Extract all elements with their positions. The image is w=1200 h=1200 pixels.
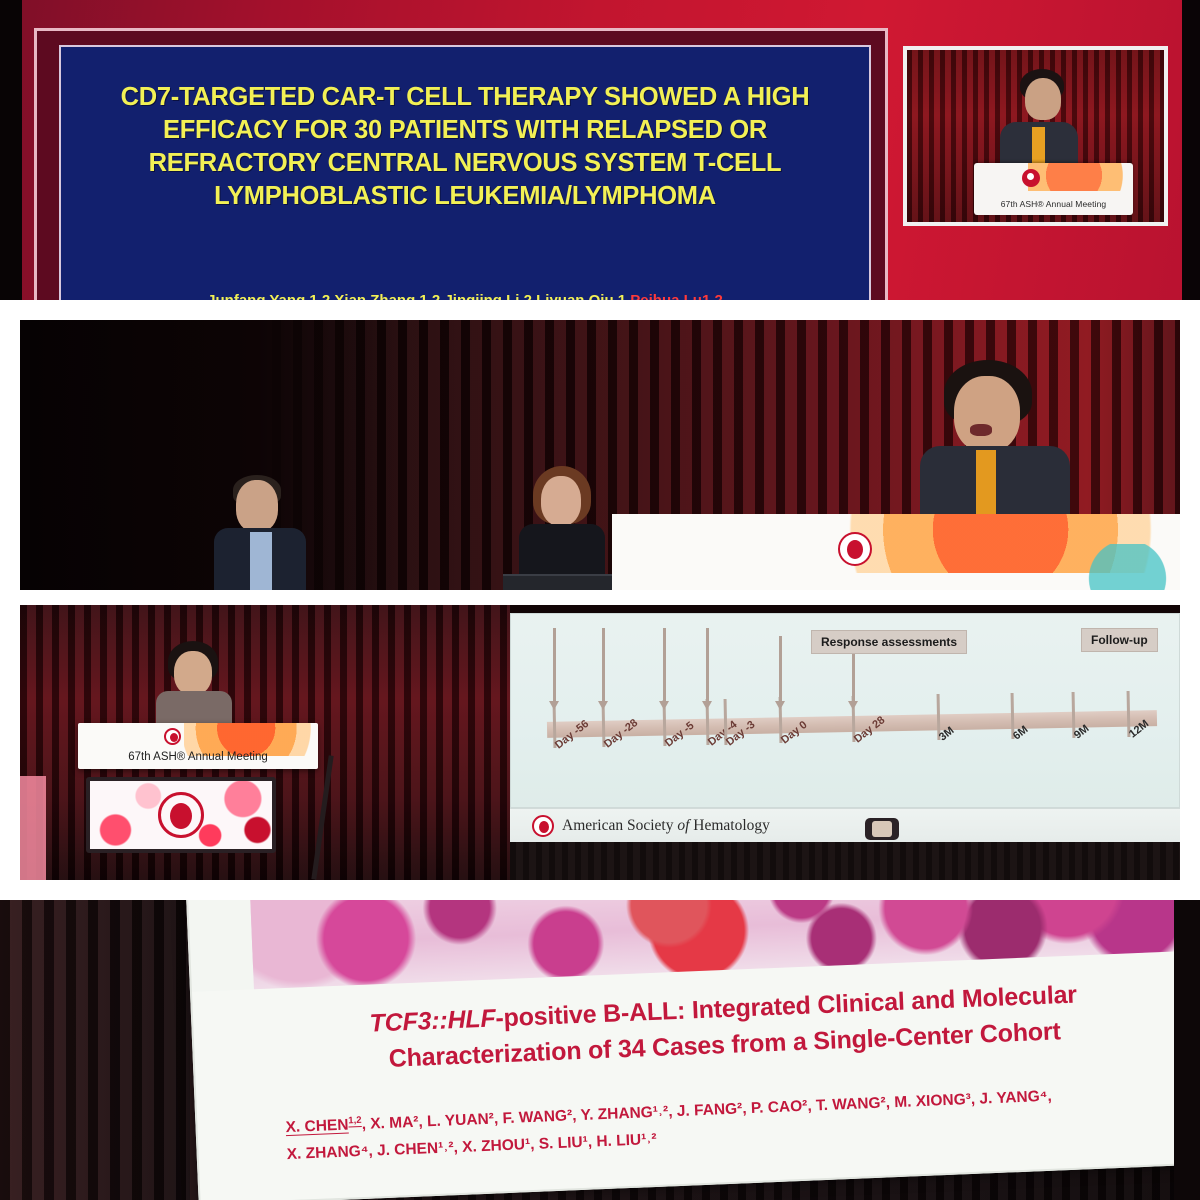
picture-in-picture-speaker[interactable]: 67th ASH® Annual Meeting [903, 46, 1168, 226]
timeline-arrow [852, 650, 855, 702]
seated-panelist-left [206, 480, 336, 590]
ash-footer-of: of [677, 817, 689, 834]
speaker-mouth [970, 424, 992, 436]
ash-logo-icon [164, 728, 181, 745]
timeline-arrow [779, 636, 782, 702]
podium-sign: 67th ASH® Annual Meeting [78, 723, 318, 769]
projection-screen-tcf3: TCF3::HLF-positive B-ALL: Integrated Cli… [186, 900, 1200, 1200]
badge-response-assessments: Response assessments [811, 630, 967, 654]
screenshot-collage: CD7-TARGETED CAR-T CELL THERAPY SHOWED A… [0, 0, 1200, 1200]
timeline-arrow [553, 628, 556, 702]
curtain-highlight [20, 776, 46, 881]
timeline-arrow [602, 628, 605, 702]
author-names: Junfang Yang,1,2 Xian Zhang,1,2 Jingjing… [207, 292, 626, 300]
ash-logo-icon [838, 532, 872, 566]
panelist-shirt [250, 532, 272, 590]
speaker-head [174, 651, 212, 695]
ash-logo-icon [158, 792, 204, 838]
presenting-author: X. CHEN [285, 1117, 349, 1137]
panelist-head [236, 480, 278, 532]
podium-sign-text: 67th ASH® Annual Meeting [974, 199, 1133, 209]
author-corresponding: Peihua Lu1,2 [630, 292, 723, 300]
curtain-left [0, 900, 190, 1200]
confidence-monitor [86, 777, 276, 853]
panel-tcf3-title-slide: TCF3::HLF-positive B-ALL: Integrated Cli… [0, 900, 1200, 1200]
ash-logo-icon [1022, 169, 1040, 187]
projection-screen-timeline: Day -56Day -28Day -5Day -4Day -3Day 0Day… [510, 613, 1180, 808]
speaker-at-podium [152, 641, 236, 727]
panel-timeline-slide: 67th ASH® Annual Meeting Day -56Day -28D… [20, 605, 1180, 880]
stage-skirting [510, 842, 1180, 880]
podium [612, 514, 1180, 590]
presenting-author-affiliation: 1,2 [348, 1115, 362, 1127]
timeline-arrow [706, 628, 709, 702]
slide-title: CD7-TARGETED CAR-T CELL THERAPY SHOWED A… [79, 81, 851, 214]
letterbox-left [0, 0, 22, 300]
slide-frame: CD7-TARGETED CAR-T CELL THERAPY SHOWED A… [34, 28, 888, 300]
curtain-right [1174, 900, 1200, 1200]
speaker-head [1025, 78, 1061, 120]
ash-footer-part1: American Society [562, 817, 677, 834]
podium-sign: 67th ASH® Annual Meeting [974, 163, 1133, 215]
microphone-icon [865, 818, 899, 840]
timeline-arrow [663, 628, 666, 702]
slide-canvas: CD7-TARGETED CAR-T CELL THERAPY SHOWED A… [59, 45, 871, 300]
letterbox-right [1182, 0, 1200, 300]
panelist-head [541, 476, 581, 526]
speaker-head [954, 376, 1020, 452]
slide-author-line: Junfang Yang,1,2 Xian Zhang,1,2 Jingjing… [81, 292, 849, 300]
slide-footer-ash: American Society of Hematology [510, 808, 1180, 842]
panel-cart-title-slide: CD7-TARGETED CAR-T CELL THERAPY SHOWED A… [0, 0, 1200, 300]
panel-stage-wide-shot [20, 320, 1180, 590]
laptop-icon [503, 574, 619, 590]
ash-footer-part2: Hematology [689, 817, 770, 834]
slide-title-gene: TCF3::HLF [369, 1004, 496, 1037]
ash-footer-text: American Society of Hematology [562, 817, 770, 835]
podium-sign-text: 67th ASH® Annual Meeting [78, 751, 318, 763]
badge-follow-up: Follow-up [1081, 628, 1158, 652]
ash-logo-icon [532, 815, 554, 837]
